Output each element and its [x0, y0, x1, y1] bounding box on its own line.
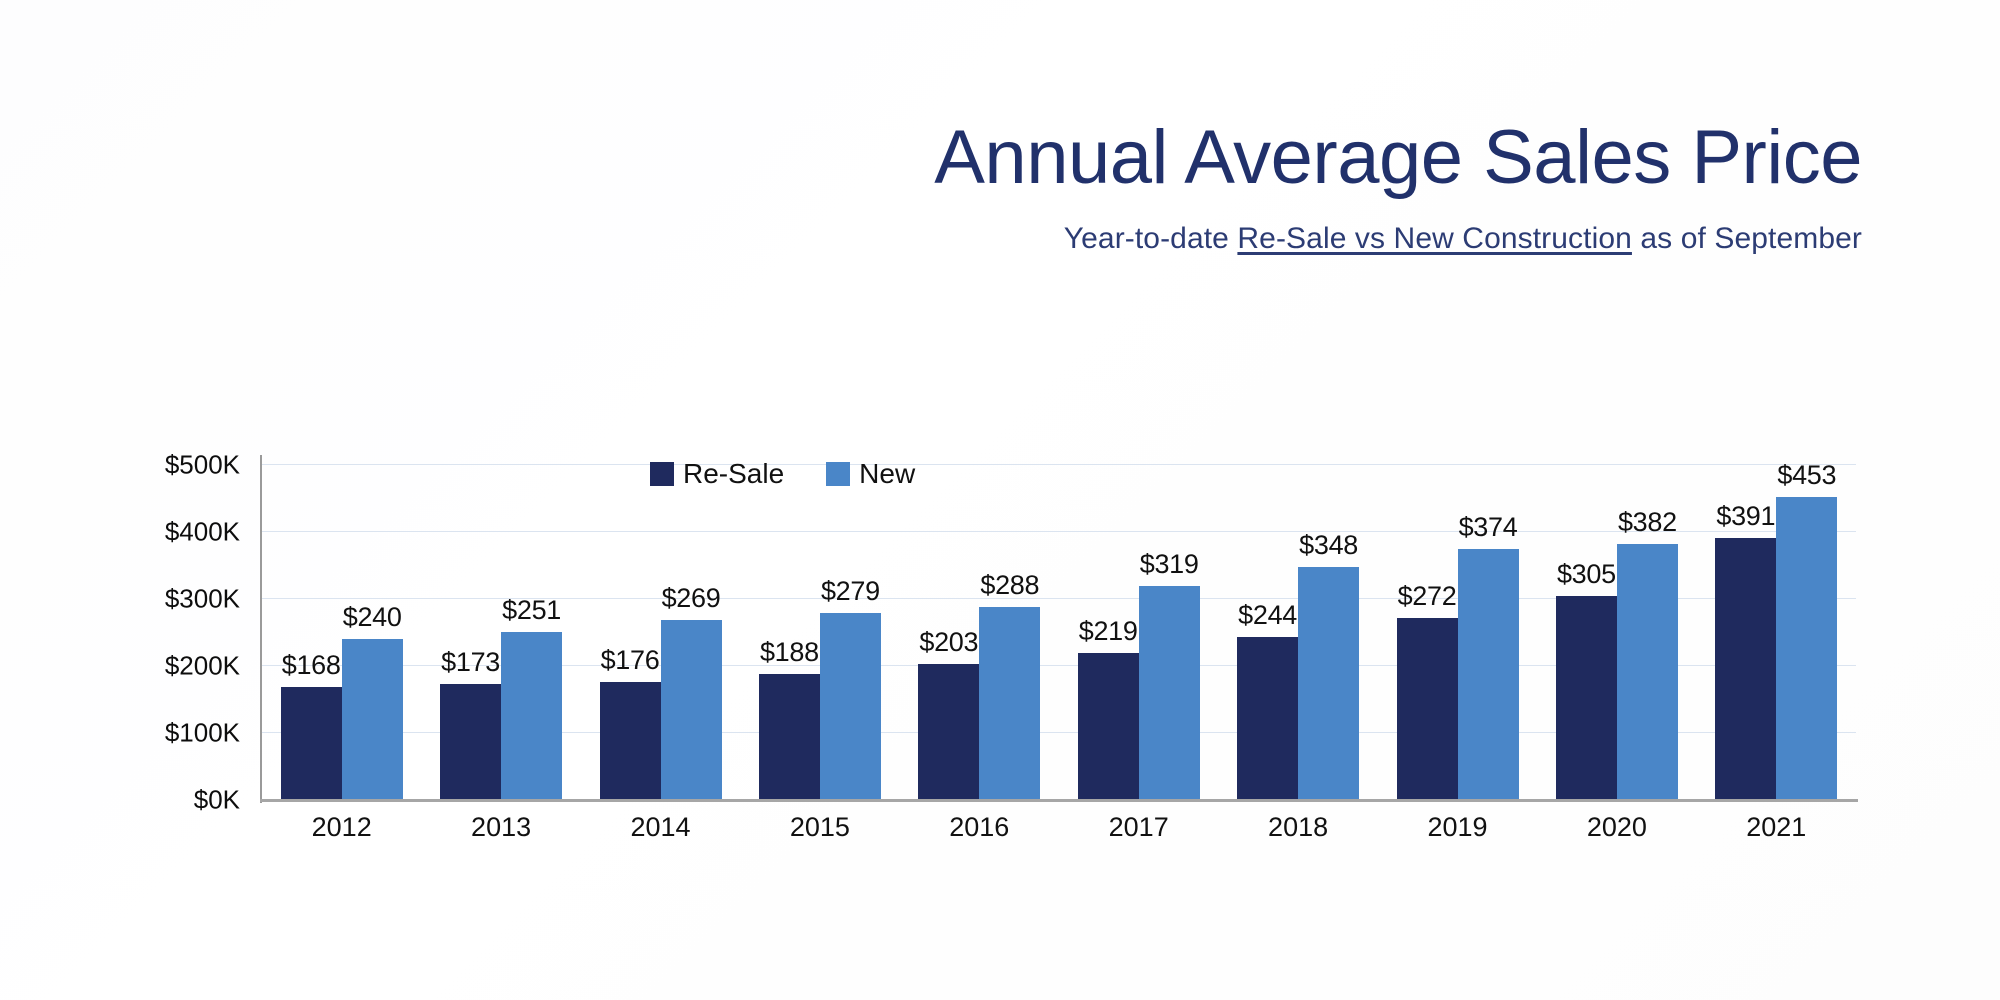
bar-value-label: $319	[1140, 549, 1199, 580]
bar-new-2013[interactable]	[501, 632, 562, 800]
bar-resale-2015[interactable]	[759, 674, 820, 800]
bar-group-2013: $173$251	[440, 465, 562, 800]
y-axis-tick-label: $100K	[30, 718, 240, 749]
y-axis-tick-label: $0K	[30, 785, 240, 816]
x-axis-tick-label-2012: 2012	[312, 812, 372, 843]
x-axis-tick-label-2015: 2015	[790, 812, 850, 843]
plot-area: $168$240$173$251$176$269$188$279$203$288…	[262, 465, 1856, 800]
subtitle-prefix: Year-to-date	[1064, 222, 1238, 255]
x-axis-tick-label-2016: 2016	[949, 812, 1009, 843]
bar-value-label: $251	[502, 595, 561, 626]
y-axis-tick-label: $300K	[30, 584, 240, 615]
y-axis-tick-label: $500K	[30, 450, 240, 481]
chart-legend: Re-SaleNew	[650, 458, 915, 490]
bar-value-label: $288	[980, 570, 1039, 601]
bar-value-label: $391	[1716, 501, 1775, 532]
bar-value-label: $203	[919, 627, 978, 658]
bar-new-2015[interactable]	[820, 613, 881, 800]
legend-item-resale[interactable]: Re-Sale	[650, 458, 784, 490]
bar-resale-2021[interactable]	[1715, 538, 1776, 800]
bar-value-label: $348	[1299, 530, 1358, 561]
bar-value-label: $374	[1459, 512, 1518, 543]
bar-group-2015: $188$279	[759, 465, 881, 800]
x-axis-tick-labels: 2012201320142015201620172018201920202021	[262, 812, 1856, 852]
legend-swatch-icon	[826, 462, 850, 486]
legend-swatch-icon	[650, 462, 674, 486]
bar-value-label: $382	[1618, 507, 1677, 538]
bar-resale-2014[interactable]	[600, 682, 661, 800]
legend-item-new[interactable]: New	[826, 458, 915, 490]
bar-value-label: $279	[821, 576, 880, 607]
bar-group-2016: $203$288	[918, 465, 1040, 800]
x-axis-tick-label-2017: 2017	[1109, 812, 1169, 843]
bar-value-label: $269	[662, 583, 721, 614]
x-axis-tick-label-2019: 2019	[1427, 812, 1487, 843]
bar-value-label: $168	[282, 650, 341, 681]
bar-value-label: $453	[1777, 460, 1836, 491]
bar-value-label: $244	[1238, 600, 1297, 631]
y-axis-tick-labels: $0K$100K$200K$300K$400K$500K	[0, 465, 240, 800]
bar-resale-2019[interactable]	[1397, 618, 1458, 800]
bar-value-label: $219	[1079, 616, 1138, 647]
x-axis-tick-label-2014: 2014	[630, 812, 690, 843]
bar-value-label: $173	[441, 647, 500, 678]
bar-resale-2016[interactable]	[918, 664, 979, 800]
bar-group-2021: $391$453	[1715, 465, 1837, 800]
bar-new-2018[interactable]	[1298, 567, 1359, 800]
page-title: Annual Average Sales Price	[0, 120, 1862, 196]
bar-value-label: $272	[1398, 581, 1457, 612]
bar-new-2012[interactable]	[342, 639, 403, 800]
bar-value-label: $240	[343, 602, 402, 633]
slide-canvas: Annual Average Sales Price Year-to-date …	[0, 0, 2000, 1000]
bar-new-2017[interactable]	[1139, 586, 1200, 800]
bar-group-2019: $272$374	[1397, 465, 1519, 800]
bar-value-label: $176	[601, 645, 660, 676]
x-axis-tick-label-2018: 2018	[1268, 812, 1328, 843]
bar-resale-2018[interactable]	[1237, 637, 1298, 800]
bar-new-2021[interactable]	[1776, 497, 1837, 801]
bar-group-2018: $244$348	[1237, 465, 1359, 800]
legend-label: New	[859, 458, 915, 490]
bar-resale-2020[interactable]	[1556, 596, 1617, 800]
chart-subtitle: Year-to-date Re-Sale vs New Construction…	[0, 222, 1862, 256]
bar-group-2020: $305$382	[1556, 465, 1678, 800]
bar-new-2016[interactable]	[979, 607, 1040, 800]
bar-group-2017: $219$319	[1078, 465, 1200, 800]
bar-new-2019[interactable]	[1458, 549, 1519, 800]
bar-resale-2013[interactable]	[440, 684, 501, 800]
x-axis-tick-label-2021: 2021	[1746, 812, 1806, 843]
legend-label: Re-Sale	[683, 458, 784, 490]
bar-resale-2012[interactable]	[281, 687, 342, 800]
bar-value-label: $305	[1557, 559, 1616, 590]
y-axis-tick-label: $200K	[30, 651, 240, 682]
x-axis-tick-label-2013: 2013	[471, 812, 531, 843]
x-axis-line	[260, 799, 1858, 802]
bar-group-2014: $176$269	[600, 465, 722, 800]
bar-new-2020[interactable]	[1617, 544, 1678, 800]
subtitle-underlined-text: Re-Sale vs New Construction	[1237, 222, 1632, 255]
subtitle-suffix: as of September	[1632, 222, 1862, 255]
x-axis-tick-label-2020: 2020	[1587, 812, 1647, 843]
bar-group-2012: $168$240	[281, 465, 403, 800]
y-axis-tick-label: $400K	[30, 517, 240, 548]
bar-value-label: $188	[760, 637, 819, 668]
bar-new-2014[interactable]	[661, 620, 722, 800]
chart-header: Annual Average Sales Price Year-to-date …	[0, 120, 1862, 256]
bar-resale-2017[interactable]	[1078, 653, 1139, 800]
